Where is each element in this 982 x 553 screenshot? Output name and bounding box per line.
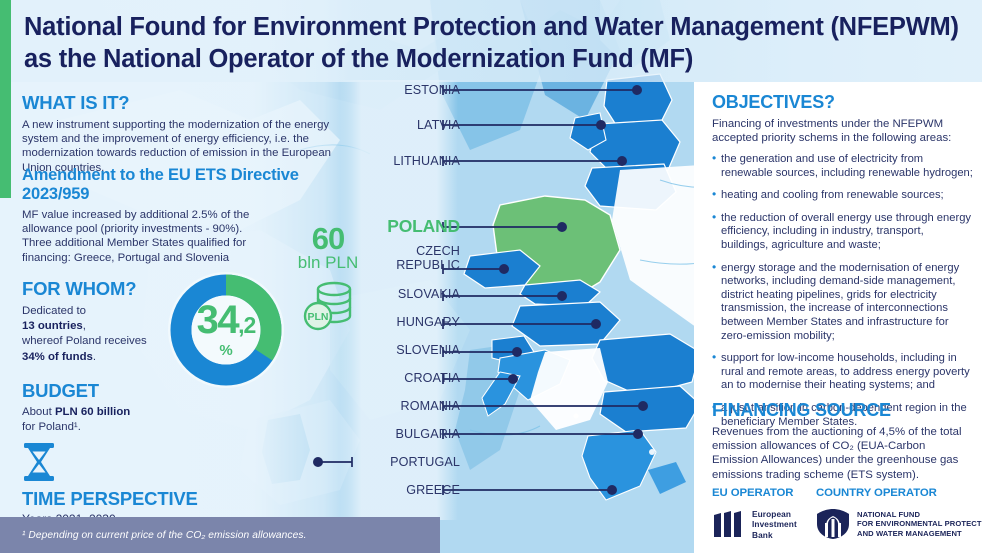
- footnote-bar: ¹ Depending on current price of the CO₂ …: [0, 517, 440, 553]
- country-label-portugal[interactable]: PORTUGAL: [332, 455, 460, 469]
- time-perspective-heading: TIME PERSPECTIVE: [22, 488, 242, 510]
- budget-amount: PLN 60 billion: [55, 406, 130, 418]
- section-time-perspective: TIME PERSPECTIVE Years 2021–2030: [22, 443, 242, 526]
- amendment-body: MF value increased by additional 2.5% of…: [22, 208, 267, 265]
- hourglass-icon: [22, 443, 56, 481]
- header-banner: National Found for Environment Protectio…: [0, 0, 982, 82]
- country-label-slovenia[interactable]: SLOVENIA: [332, 343, 460, 357]
- country-operator: COUNTRY OPERATOR NATIONAL FUND FOR ENVIR…: [816, 487, 982, 539]
- country-label-hungary[interactable]: HUNGARY: [332, 315, 460, 329]
- page-title: National Found for Environment Protectio…: [24, 11, 968, 75]
- objectives-heading: OBJECTIVES?: [712, 92, 974, 113]
- budget-prefix: About: [22, 406, 55, 418]
- list-item: support for low-income households, inclu…: [712, 352, 974, 393]
- section-financing-source: FINANCING SOURCE Revenues from the aucti…: [712, 400, 974, 482]
- financing-body: Revenues from the auctioning of 4,5% of …: [712, 425, 974, 482]
- country-operator-name: NATIONAL FUND FOR ENVIRONMENTAL PROTECTI…: [857, 510, 982, 539]
- amendment-heading: Amendment to the EU ETS Directive 2023/9…: [22, 166, 322, 204]
- eu-operator-name: European Investment Bank: [752, 509, 797, 540]
- country-label-list: ESTONIA LATVIA LITHUANIA POLAND CZECHREP…: [330, 0, 460, 553]
- objectives-list: the generation and use of electricity fr…: [712, 153, 974, 429]
- eu-operator: EU OPERATOR European Investment Bank: [712, 487, 816, 540]
- country-label-romania[interactable]: ROMANIA: [332, 399, 460, 413]
- for-whom-period: .: [93, 351, 96, 363]
- for-whom-line1: Dedicated to: [22, 305, 86, 317]
- infographic-poster: National Found for Environment Protectio…: [0, 0, 982, 553]
- eib-line-1: European: [752, 509, 797, 519]
- country-label-poland[interactable]: POLAND: [332, 217, 460, 235]
- coin-label: PLN: [308, 311, 329, 323]
- country-label-greece[interactable]: GREECE: [332, 483, 460, 497]
- nfepwm-line-3: AND WATER MANAGEMENT: [857, 529, 982, 539]
- country-operator-logo-row: NATIONAL FUND FOR ENVIRONMENTAL PROTECTI…: [816, 509, 982, 539]
- section-budget: BUDGET About PLN 60 billion for Poland¹.: [22, 380, 212, 434]
- budget-body: About PLN 60 billion for Poland¹.: [22, 405, 212, 434]
- list-item: the reduction of overall energy use thro…: [712, 212, 974, 253]
- country-label-czech-republic[interactable]: CZECHREPUBLIC: [332, 244, 460, 272]
- eib-line-2: Investment: [752, 519, 797, 529]
- financing-heading: FINANCING SOURCE: [712, 400, 974, 421]
- country-label-estonia[interactable]: ESTONIA: [332, 83, 460, 97]
- green-accent-bar: [0, 0, 11, 198]
- eib-bars-logo: [712, 511, 746, 539]
- country-label-bulgaria[interactable]: BULGARIA: [332, 427, 460, 441]
- nfepwm-line-2: FOR ENVIRONMENTAL PROTECTION: [857, 519, 982, 529]
- poland-share-donut: 34,2 %: [168, 272, 284, 388]
- country-operator-heading: COUNTRY OPERATOR: [816, 487, 982, 499]
- eu-operator-logo-row: European Investment Bank: [712, 509, 816, 540]
- list-item: the generation and use of electricity fr…: [712, 153, 974, 180]
- country-label-latvia[interactable]: LATVIA: [332, 118, 460, 132]
- nfepwm-line-1: NATIONAL FUND: [857, 510, 982, 520]
- for-whom-line3: whereof Poland receives: [22, 335, 147, 347]
- country-label-lithuania[interactable]: LITHUANIA: [332, 154, 460, 168]
- for-whom-comma: ,: [83, 320, 86, 332]
- budget-suffix: for Poland¹.: [22, 421, 81, 433]
- for-whom-share: 34% of funds: [22, 351, 93, 363]
- for-whom-countries: 13 ountries: [22, 320, 83, 332]
- what-is-it-heading: WHAT IS IT?: [22, 92, 342, 114]
- country-label-croatia[interactable]: CROATIA: [332, 371, 460, 385]
- section-objectives: OBJECTIVES? Financing of investments und…: [712, 92, 974, 438]
- section-amendment: Amendment to the EU ETS Directive 2023/9…: [22, 166, 322, 265]
- objectives-intro: Financing of investments under the NFEPW…: [712, 117, 974, 145]
- list-item: heating and cooling from renewable sourc…: [712, 189, 974, 203]
- eib-line-3: Bank: [752, 530, 797, 540]
- country-label-slovakia[interactable]: SLOVAKIA: [332, 287, 460, 301]
- list-item: energy storage and the modernisation of …: [712, 262, 974, 344]
- section-what-is-it: WHAT IS IT? A new instrument supporting …: [22, 92, 342, 175]
- footnote-text: ¹ Depending on current price of the CO₂ …: [0, 530, 307, 541]
- eu-operator-heading: EU OPERATOR: [712, 487, 816, 499]
- nfepwm-shield-logo: [816, 509, 850, 539]
